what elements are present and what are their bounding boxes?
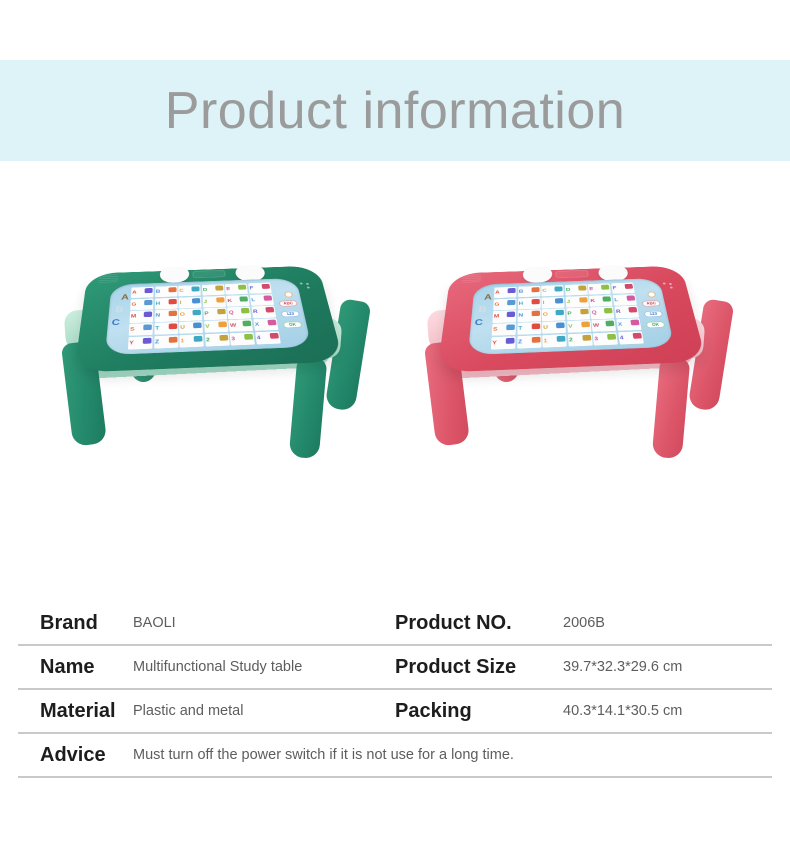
speaker-grille-icon [99, 274, 119, 283]
spec-value-brand: BAOLI [133, 615, 395, 631]
ghost-letter-b: B [115, 305, 124, 314]
ghost-letter-c: C [474, 317, 483, 327]
alphabet-tile: L [250, 294, 274, 306]
alphabet-tile: W [229, 319, 254, 332]
mode-pill-abc: ABC [279, 300, 298, 306]
speaker-grille-icon [462, 274, 482, 283]
spec-value-product-no: 2006B [563, 615, 772, 631]
mode-pill-ok: OK [283, 321, 303, 328]
alphabet-tile: Q [227, 307, 251, 319]
alphabet-tile: 2 [568, 333, 593, 346]
product-image-green: A B C ABCDEFGHIJKLMNOPQRSTUVWXYZ1234 ABC… [45, 180, 385, 510]
table-leg-front-right [652, 357, 691, 459]
alphabet-tile: 3 [230, 332, 256, 345]
table-leg-front-right [289, 357, 328, 459]
alphabet-tile: P [566, 308, 590, 320]
product-gallery: A B C ABCDEFGHIJKLMNOPQRSTUVWXYZ1234 ABC… [0, 180, 790, 570]
mode-pill-ok: OK [646, 321, 666, 328]
table-row: Material Plastic and metal Packing 40.3*… [18, 690, 772, 734]
alphabet-tile: G [130, 298, 153, 310]
table-row: Advice Must turn off the power switch if… [18, 734, 772, 778]
alphabet-tile: U [542, 321, 566, 334]
alphabet-tile: Y [491, 336, 516, 350]
alphabet-tile: C [541, 285, 564, 296]
alphabet-tile: V [204, 320, 229, 333]
alphabet-tile: N [154, 309, 177, 321]
alphabet-tile: H [518, 297, 541, 309]
led-indicator-icon [300, 282, 314, 291]
mode-pill-123: 123 [644, 311, 664, 318]
spec-label-brand: Brand [18, 612, 133, 635]
alphabet-tile: D [565, 284, 588, 295]
alphabet-tile: Z [517, 335, 541, 349]
alphabet-tile: J [565, 296, 589, 308]
rim-detail [192, 270, 225, 278]
table-top-frame: A B C ABCDEFGHIJKLMNOPQRSTUVWXYZ1234 ABC… [437, 266, 707, 373]
alphabet-tile: K [589, 295, 613, 307]
alphabet-tile: 1 [542, 334, 567, 348]
alphabet-tile: O [179, 309, 203, 321]
alphabet-tile: A [494, 287, 517, 299]
alphabet-tile: 1 [179, 334, 204, 348]
alphabet-tile: F [248, 283, 272, 294]
alphabet-tile: P [203, 308, 227, 320]
alphabet-tile: H [155, 297, 178, 309]
ghost-letter-b: B [478, 305, 487, 314]
product-image-pink: A B C ABCDEFGHIJKLMNOPQRSTUVWXYZ1234 ABC… [408, 180, 748, 510]
alphabet-tile: R [251, 306, 276, 318]
alphabet-tile: W [592, 319, 617, 332]
rim-detail [555, 270, 588, 278]
alphabet-tile: X [253, 318, 278, 331]
alphabet-tile: V [567, 320, 592, 333]
page-title: Product information [165, 85, 625, 137]
alphabet-tile: X [616, 318, 641, 331]
alphabet-tile: M [129, 310, 153, 323]
spec-label-packing: Packing [395, 700, 563, 723]
alphabet-tile: E [588, 283, 611, 294]
alphabet-tile: N [517, 309, 540, 321]
alphabet-learning-panel: A B C ABCDEFGHIJKLMNOPQRSTUVWXYZ1234 ABC… [105, 278, 312, 355]
alphabet-learning-panel: A B C ABCDEFGHIJKLMNOPQRSTUVWXYZ1234 ABC… [468, 278, 675, 355]
table-top-frame: A B C ABCDEFGHIJKLMNOPQRSTUVWXYZ1234 ABC… [74, 266, 344, 373]
alphabet-tile: O [542, 309, 566, 321]
alphabet-tile: C [178, 285, 201, 296]
table-row: Name Multifunctional Study table Product… [18, 646, 772, 690]
alphabet-tile: K [226, 295, 250, 307]
ghost-letter-c: C [111, 317, 120, 327]
alphabet-tile: D [202, 284, 225, 295]
alphabet-tile-grid: ABCDEFGHIJKLMNOPQRSTUVWXYZ1234 [491, 283, 644, 350]
alphabet-tile: 2 [205, 333, 230, 346]
spec-label-name: Name [18, 656, 133, 679]
alphabet-tile: A [131, 287, 154, 299]
table-row: Brand BAOLI Product NO. 2006B [18, 602, 772, 646]
spec-label-product-size: Product Size [395, 656, 563, 679]
page-header-banner: Product information [0, 60, 790, 161]
alphabet-tile: I [179, 297, 202, 309]
alphabet-tile: Q [590, 307, 614, 319]
alphabet-tile: L [613, 294, 637, 306]
storage-knob-left [160, 267, 190, 283]
product-information-page: Product information A B C A [0, 0, 790, 868]
alphabet-tile: T [517, 322, 541, 335]
alphabet-tile: 4 [618, 331, 644, 344]
power-button-icon [647, 292, 656, 298]
alphabet-tile: M [492, 310, 516, 323]
alphabet-tile: S [129, 323, 153, 336]
alphabet-tile: Y [128, 336, 153, 350]
alphabet-tile: B [155, 286, 178, 298]
spec-value-advice: Must turn off the power switch if it is … [133, 747, 772, 763]
spec-value-packing: 40.3*14.1*30.5 cm [563, 703, 772, 719]
alphabet-tile: 4 [255, 331, 281, 344]
alphabet-tile: I [542, 297, 565, 309]
alphabet-tile: F [611, 283, 635, 294]
power-button-icon [284, 292, 293, 298]
spec-label-material: Material [18, 700, 133, 723]
alphabet-tile: R [614, 306, 639, 318]
alphabet-tile: J [202, 296, 226, 308]
alphabet-tile: Z [154, 335, 178, 349]
alphabet-tile-grid: ABCDEFGHIJKLMNOPQRSTUVWXYZ1234 [128, 283, 281, 350]
spec-label-product-no: Product NO. [395, 612, 563, 635]
mode-pill-abc: ABC [642, 300, 661, 306]
storage-knob-left [523, 267, 553, 283]
spec-label-advice: Advice [18, 744, 133, 767]
ghost-letter-a: A [121, 293, 129, 302]
alphabet-tile: S [492, 323, 516, 336]
alphabet-tile: B [518, 286, 541, 298]
alphabet-tile: 3 [593, 332, 619, 345]
alphabet-tile: U [179, 321, 203, 334]
mode-pill-123: 123 [281, 311, 301, 318]
alphabet-tile: T [154, 322, 178, 335]
alphabet-tile: G [493, 298, 516, 310]
spec-value-material: Plastic and metal [133, 703, 395, 719]
spec-value-product-size: 39.7*32.3*29.6 cm [563, 659, 772, 675]
spec-value-name: Multifunctional Study table [133, 659, 395, 675]
alphabet-tile: E [225, 283, 248, 294]
led-indicator-icon [663, 282, 677, 291]
ghost-letter-a: A [484, 293, 492, 302]
product-spec-table: Brand BAOLI Product NO. 2006B Name Multi… [18, 602, 772, 778]
